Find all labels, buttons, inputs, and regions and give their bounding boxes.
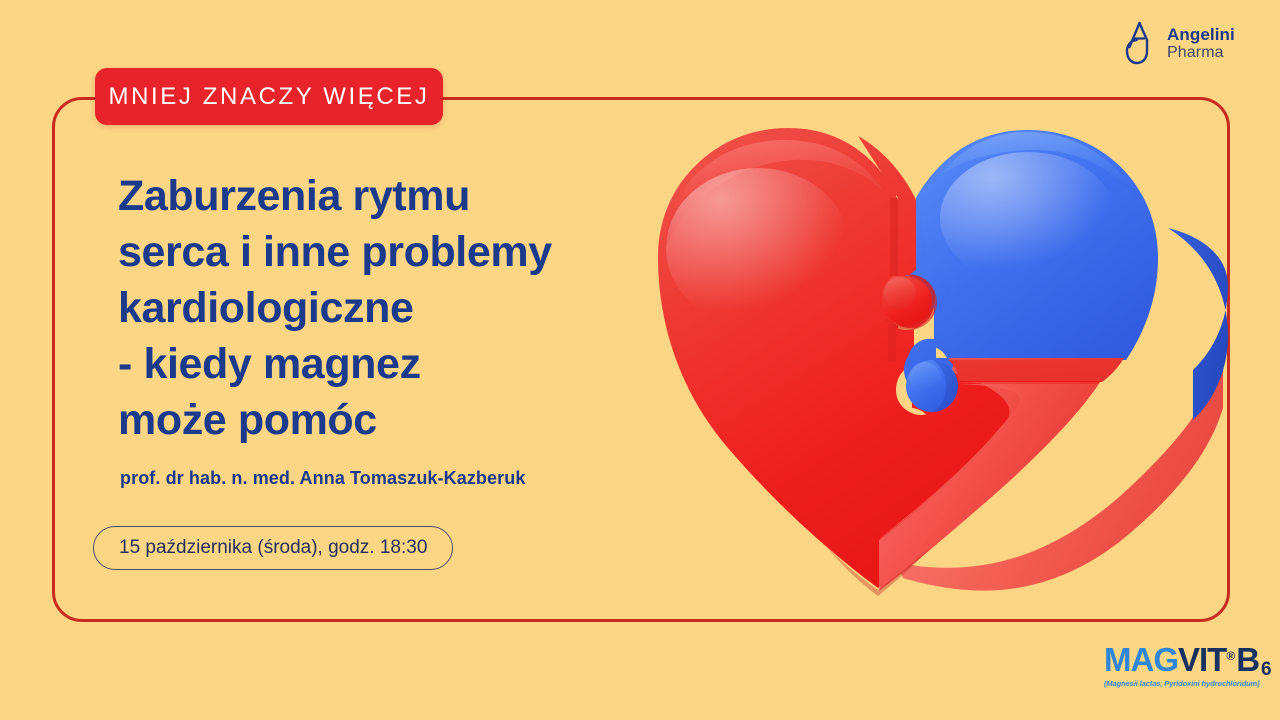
angelini-pharma-logo: Angelini Pharma: [1124, 20, 1235, 66]
angelini-droplet-a-icon: [1124, 20, 1158, 66]
speaker-name: prof. dr hab. n. med. Anna Tomaszuk-Kazb…: [120, 468, 525, 489]
magvit-6-subscript: 6: [1261, 643, 1272, 676]
angelini-subname: Pharma: [1167, 44, 1235, 62]
magvit-b6-logo: MAGVIT®B6 (Magnesii lactas, Pyridoxini h…: [1104, 643, 1244, 688]
headline-line-3: kardiologiczne: [118, 280, 678, 336]
angelini-name: Angelini: [1167, 25, 1235, 44]
banner-canvas: MNIEJ ZNACZY WIĘCEJ Zaburzenia rytmu ser…: [0, 0, 1280, 720]
event-date-pill: 15 października (środa), godz. 18:30: [93, 526, 453, 570]
headline-line-5: może pomóc: [118, 392, 678, 448]
magvit-wordmark: MAGVIT®B6: [1104, 643, 1244, 676]
magvit-b-letter: B: [1236, 643, 1260, 676]
headline-line-1: Zaburzenia rytmu: [118, 168, 678, 224]
registered-trademark-icon: ®: [1226, 650, 1235, 662]
magvit-vit-it: IT: [1199, 643, 1226, 676]
tagline-badge-label: MNIEJ ZNACZY WIĘCEJ: [109, 83, 430, 111]
magvit-mag-m: M: [1104, 643, 1131, 676]
headline-line-2: serca i inne problemy: [118, 224, 678, 280]
tagline-badge: MNIEJ ZNACZY WIĘCEJ: [95, 68, 443, 125]
magvit-ingredients-label: (Magnesii lactas, Pyridoxini hydrochlori…: [1104, 679, 1244, 688]
page-title: Zaburzenia rytmu serca i inne problemy k…: [118, 168, 678, 448]
headline-line-4: - kiedy magnez: [118, 336, 678, 392]
magvit-vit-v: V: [1178, 643, 1199, 676]
heart-puzzle-3d-illustration: [648, 108, 1258, 613]
event-date-label: 15 października (środa), godz. 18:30: [119, 537, 427, 559]
magvit-mag-ag: AG: [1131, 643, 1179, 676]
angelini-wordmark: Angelini Pharma: [1167, 25, 1235, 62]
